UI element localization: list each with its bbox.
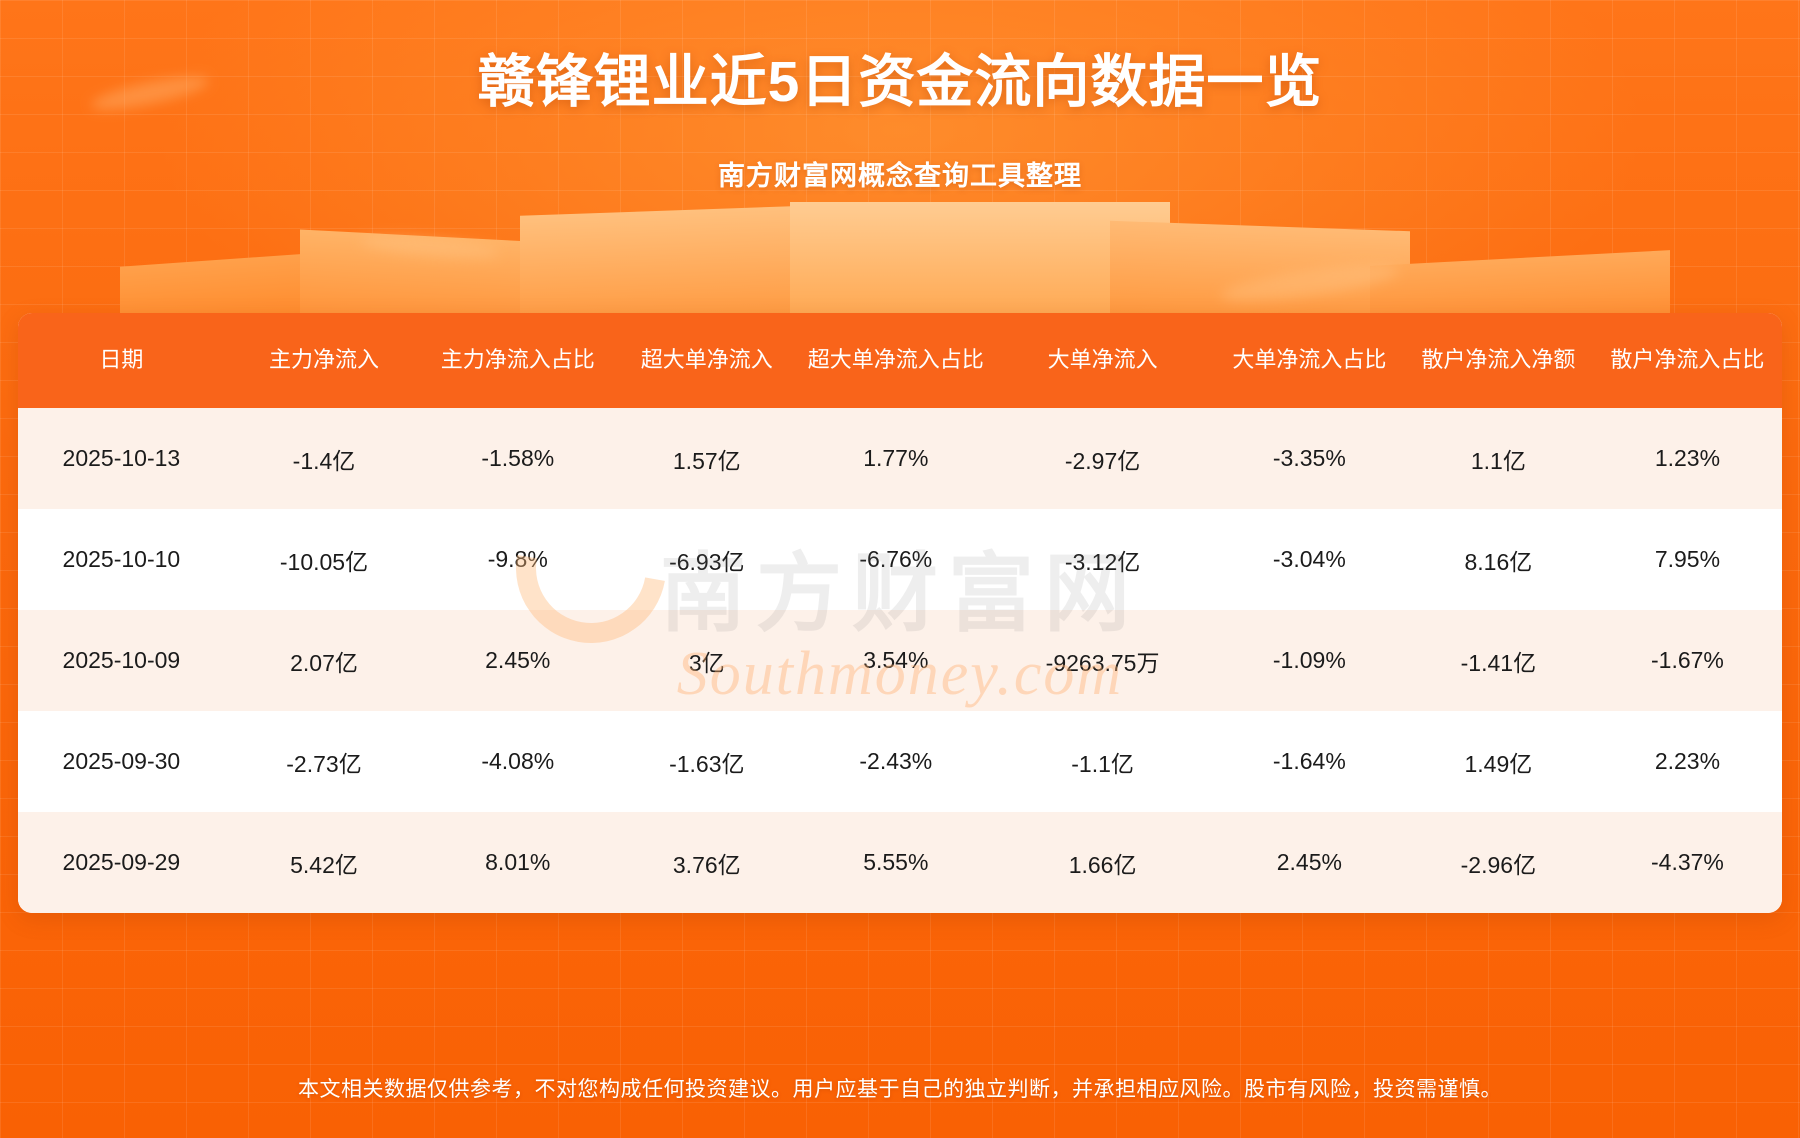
cell-large-net: -2.97亿 (990, 408, 1214, 509)
cell-main-pct: -9.8% (423, 509, 612, 610)
cell-xl-net: 1.57亿 (612, 408, 801, 509)
cell-retail-pct: 7.95% (1593, 509, 1782, 610)
table-row: 2025-10-10 -10.05亿 -9.8% -6.93亿 -6.76% -… (18, 509, 1782, 610)
cell-xl-net: 3.76亿 (612, 812, 801, 913)
cell-date: 2025-10-10 (18, 509, 225, 610)
cell-main-net: 2.07亿 (225, 610, 423, 711)
cell-xl-pct: 5.55% (801, 812, 990, 913)
cell-main-net: 5.42亿 (225, 812, 423, 913)
cell-xl-pct: 3.54% (801, 610, 990, 711)
cell-xl-net: -6.93亿 (612, 509, 801, 610)
cell-large-pct: 2.45% (1215, 812, 1404, 913)
page-title: 赣锋锂业近5日资金流向数据一览 (0, 36, 1800, 118)
cell-large-net: -3.12亿 (990, 509, 1214, 610)
cell-main-pct: 2.45% (423, 610, 612, 711)
table-header-row: 日期 主力净流入 主力净流入占比 超大单净流入 超大单净流入占比 大单净流入 大… (18, 313, 1782, 408)
cell-date: 2025-10-13 (18, 408, 225, 509)
cell-large-pct: -3.04% (1215, 509, 1404, 610)
header-block: 赣锋锂业近5日资金流向数据一览 南方财富网概念查询工具整理 (0, 36, 1800, 193)
column-header-main-pct: 主力净流入占比 (423, 313, 612, 408)
column-header-large-net: 大单净流入 (990, 313, 1214, 408)
cell-xl-pct: -2.43% (801, 711, 990, 812)
cell-retail-net: -1.41亿 (1404, 610, 1593, 711)
cell-main-net: -2.73亿 (225, 711, 423, 812)
column-header-xl-pct: 超大单净流入占比 (801, 313, 990, 408)
cell-xl-net: -1.63亿 (612, 711, 801, 812)
cell-large-pct: -1.64% (1215, 711, 1404, 812)
cell-large-pct: -3.35% (1215, 408, 1404, 509)
table-header: 日期 主力净流入 主力净流入占比 超大单净流入 超大单净流入占比 大单净流入 大… (18, 313, 1782, 408)
cell-xl-pct: 1.77% (801, 408, 990, 509)
cell-large-pct: -1.09% (1215, 610, 1404, 711)
cell-main-net: -10.05亿 (225, 509, 423, 610)
cell-retail-net: 1.1亿 (1404, 408, 1593, 509)
fund-flow-table: 日期 主力净流入 主力净流入占比 超大单净流入 超大单净流入占比 大单净流入 大… (18, 313, 1782, 913)
page-subtitle: 南方财富网概念查询工具整理 (0, 154, 1800, 193)
cell-date: 2025-09-30 (18, 711, 225, 812)
cell-main-pct: 8.01% (423, 812, 612, 913)
cell-retail-pct: 2.23% (1593, 711, 1782, 812)
cell-retail-net: 8.16亿 (1404, 509, 1593, 610)
table-row: 2025-10-13 -1.4亿 -1.58% 1.57亿 1.77% -2.9… (18, 408, 1782, 509)
cell-xl-net: 3亿 (612, 610, 801, 711)
table-row: 2025-09-29 5.42亿 8.01% 3.76亿 5.55% 1.66亿… (18, 812, 1782, 913)
table-row: 2025-10-09 2.07亿 2.45% 3亿 3.54% -9263.75… (18, 610, 1782, 711)
table-body: 2025-10-13 -1.4亿 -1.58% 1.57亿 1.77% -2.9… (18, 408, 1782, 913)
column-header-xl-net: 超大单净流入 (612, 313, 801, 408)
data-table-card: 南方财富网 Southmoney.com 日期 主力净流入 主力净流入占比 超大… (18, 313, 1782, 913)
footer-disclaimer: 本文相关数据仅供参考，不对您构成任何投资建议。用户应基于自己的独立判断，并承担相… (298, 1073, 1502, 1103)
cell-retail-net: 1.49亿 (1404, 711, 1593, 812)
cell-large-net: 1.66亿 (990, 812, 1214, 913)
cell-retail-pct: -4.37% (1593, 812, 1782, 913)
column-header-date: 日期 (18, 313, 225, 408)
column-header-main-net: 主力净流入 (225, 313, 423, 408)
cell-xl-pct: -6.76% (801, 509, 990, 610)
footer: 本文相关数据仅供参考，不对您构成任何投资建议。用户应基于自己的独立判断，并承担相… (0, 1038, 1800, 1138)
cell-large-net: -1.1亿 (990, 711, 1214, 812)
cell-retail-net: -2.96亿 (1404, 812, 1593, 913)
table-row: 2025-09-30 -2.73亿 -4.08% -1.63亿 -2.43% -… (18, 711, 1782, 812)
cell-main-net: -1.4亿 (225, 408, 423, 509)
cell-date: 2025-09-29 (18, 812, 225, 913)
cell-large-net: -9263.75万 (990, 610, 1214, 711)
cell-main-pct: -4.08% (423, 711, 612, 812)
column-header-large-pct: 大单净流入占比 (1215, 313, 1404, 408)
cell-date: 2025-10-09 (18, 610, 225, 711)
cell-retail-pct: -1.67% (1593, 610, 1782, 711)
cell-retail-pct: 1.23% (1593, 408, 1782, 509)
cell-main-pct: -1.58% (423, 408, 612, 509)
column-header-retail-pct: 散户净流入占比 (1593, 313, 1782, 408)
column-header-retail-net: 散户净流入净额 (1404, 313, 1593, 408)
